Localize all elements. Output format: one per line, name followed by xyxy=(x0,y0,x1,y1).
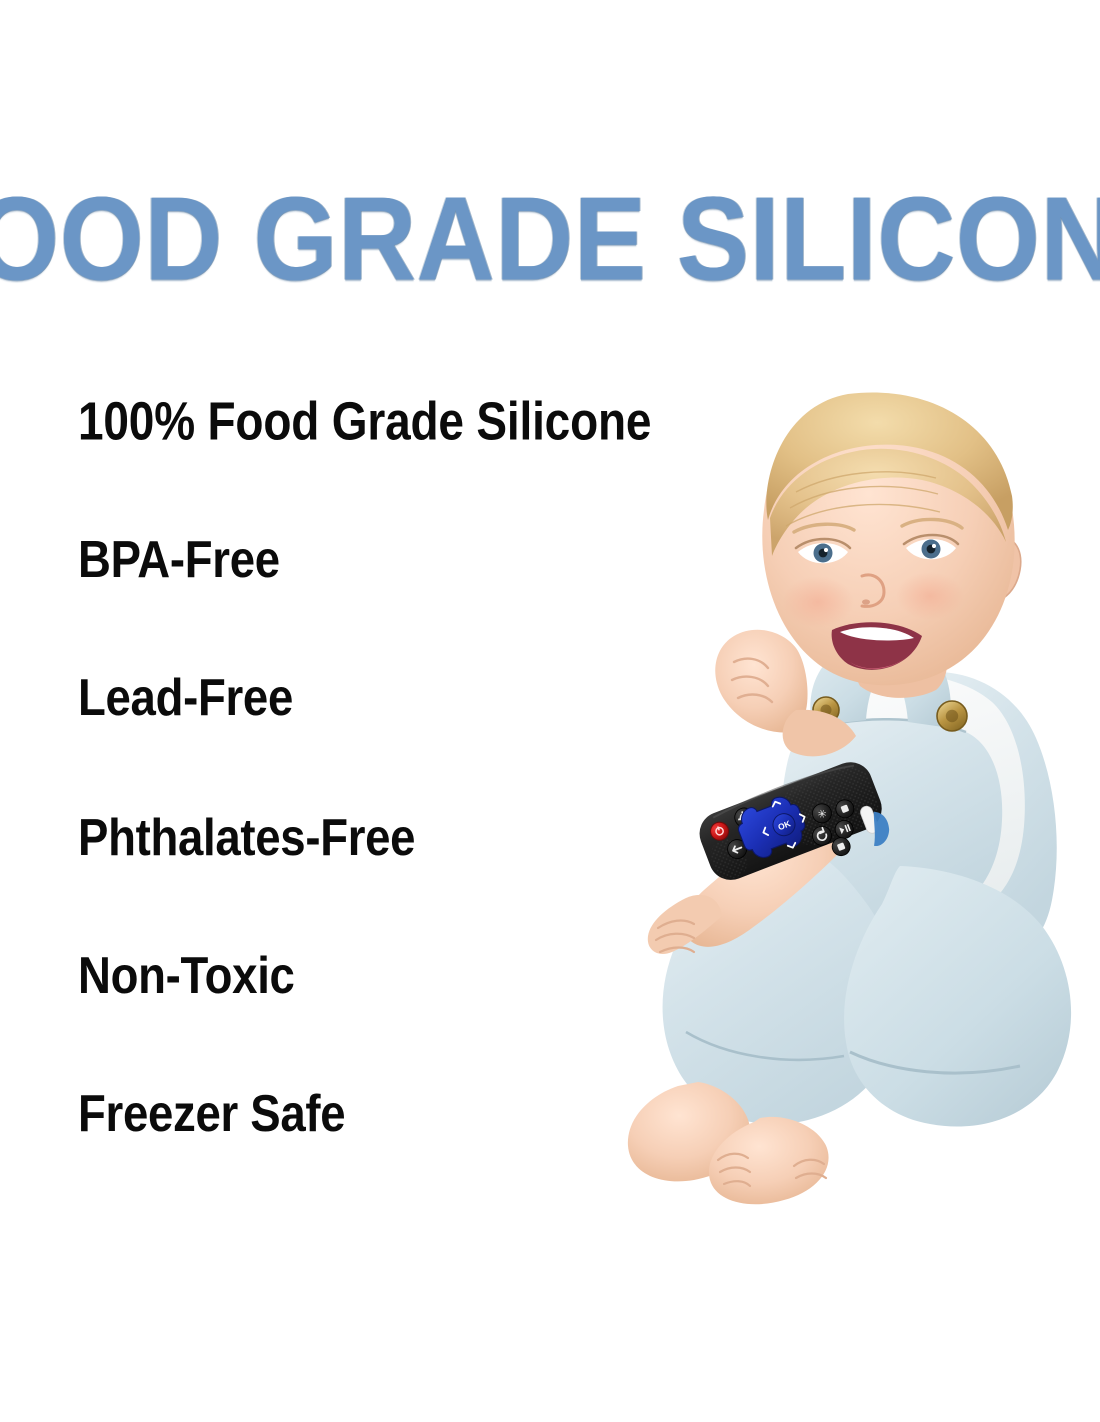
feature-item-freezer-safe: Freezer Safe xyxy=(78,1087,345,1139)
page-title: FOOD GRADE SILICONE xyxy=(0,180,1100,299)
feature-item-food-grade: 100% Food Grade Silicone xyxy=(78,394,651,448)
baby-cheek-left xyxy=(782,576,854,628)
feature-item-bpa-free: BPA-Free xyxy=(78,533,280,585)
baby-nostril xyxy=(862,599,870,604)
baby-cheek-right xyxy=(896,572,964,620)
feature-list: 100% Food Grade Silicone BPA-Free Lead-F… xyxy=(0,372,700,1162)
overalls-button-right-hole xyxy=(946,710,958,722)
remote-body-group: OK ✳ xyxy=(693,756,895,905)
feature-item-non-toxic: Non-Toxic xyxy=(78,949,295,1001)
feature-item-lead-free: Lead-Free xyxy=(78,671,293,723)
feature-item-phthalates-free: Phthalates-Free xyxy=(78,811,415,863)
silicone-remote-cover: OK ✳ xyxy=(686,742,896,902)
product-feature-graphic: FOOD GRADE SILICONE 100% Food Grade Sili… xyxy=(0,0,1100,1422)
